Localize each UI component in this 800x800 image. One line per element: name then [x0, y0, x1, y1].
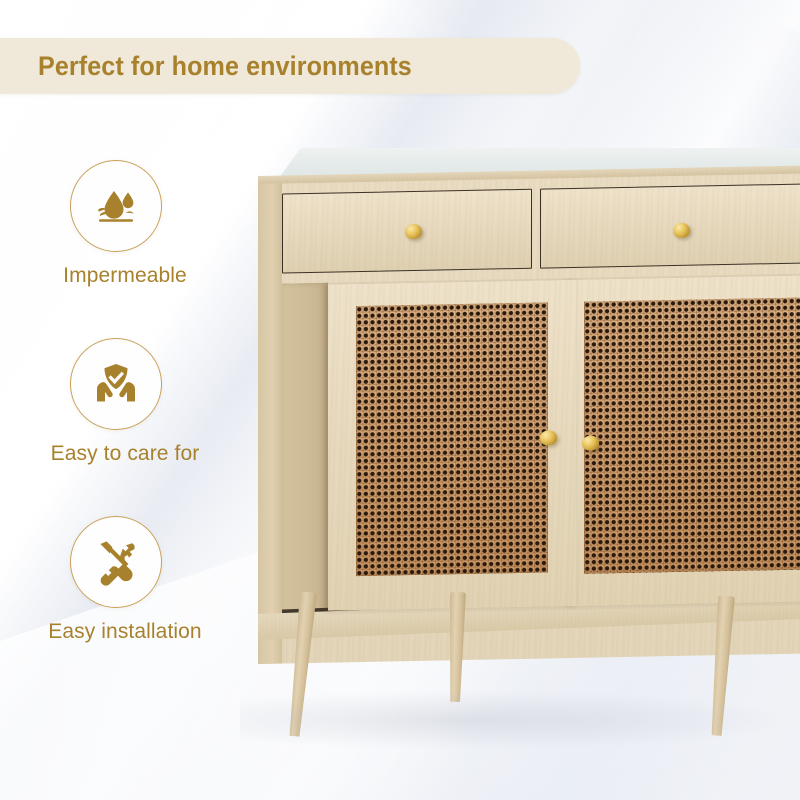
feature-list: Impermeable Easy to care for — [0, 160, 250, 694]
cabinet-carcass — [258, 173, 800, 664]
wrench-screwdriver-icon — [88, 534, 144, 590]
cane-webbing-panel — [584, 297, 800, 573]
brass-knob-icon — [673, 223, 690, 238]
drawer-row — [282, 177, 800, 279]
feature-icon-circle — [70, 516, 162, 608]
feature-label: Easy to care for — [0, 442, 250, 466]
feature-icon-circle — [70, 160, 162, 252]
cane-webbing-panel — [356, 302, 548, 576]
feature-label: Impermeable — [0, 264, 250, 288]
feature-item-easy-to-care-for: Easy to care for — [0, 338, 250, 516]
sliding-door-right — [570, 275, 800, 606]
shield-check-in-hands-icon — [87, 355, 145, 413]
drawer-right — [540, 183, 800, 268]
sliding-door-zone — [282, 273, 800, 615]
sliding-door-left — [328, 280, 576, 611]
feature-icon-circle — [70, 338, 162, 430]
feature-label: Easy installation — [0, 620, 250, 644]
door-recess — [282, 283, 328, 616]
wood-grain-texture — [541, 184, 800, 267]
brass-knob-icon — [405, 224, 422, 239]
page-title: Perfect for home environments — [38, 51, 412, 82]
promo-banner-image: Perfect for home environments Impermeabl… — [0, 0, 800, 800]
headline-banner: Perfect for home environments — [0, 38, 580, 94]
brass-knob-icon — [582, 435, 599, 450]
cabinet-side-panel — [258, 184, 282, 664]
brass-knob-icon — [540, 430, 557, 445]
feature-item-impermeable: Impermeable — [0, 160, 250, 338]
feature-item-easy-installation: Easy installation — [0, 516, 250, 694]
product-image-rattan-sideboard — [258, 140, 800, 740]
water-drop-icon — [88, 178, 144, 234]
drawer-left — [282, 189, 532, 274]
